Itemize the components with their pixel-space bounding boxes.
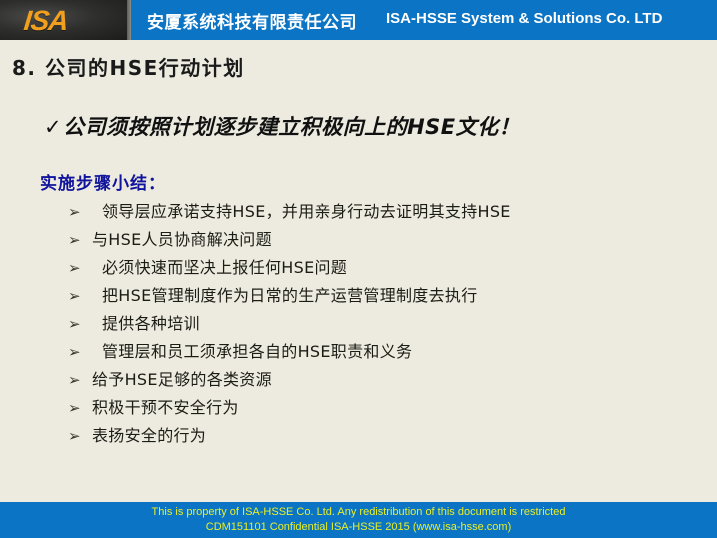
footer-document-id-line: CDM151101 Confidential ISA-HSSE 2015 (ww… xyxy=(0,520,717,535)
arrow-bullet-icon: ➢ xyxy=(68,198,84,226)
list-item: ➢ 给予HSE足够的各类资源 xyxy=(68,366,698,394)
list-item-label: 表扬安全的行为 xyxy=(84,422,206,450)
list-item-label: 领导层应承诺支持HSE，并用亲身行动去证明其支持HSE xyxy=(84,198,511,226)
implementation-steps-list: ➢ 领导层应承诺支持HSE，并用亲身行动去证明其支持HSE ➢ 与HSE人员协商… xyxy=(68,198,698,450)
list-item-label: 与HSE人员协商解决问题 xyxy=(84,226,272,254)
section-subheading: 实施步骤小结： xyxy=(40,169,166,194)
highlight-statement: ✓公司须按照计划逐步建立积极向上的HSE文化！ xyxy=(44,111,520,141)
company-name-chinese: 安厦系统科技有限责任公司 xyxy=(147,8,357,33)
slide-canvas: ISA 安厦系统科技有限责任公司 ISA-HSSE System & Solut… xyxy=(0,0,717,538)
page-title: 8. 公司的HSE行动计划 xyxy=(12,52,245,81)
arrow-bullet-icon: ➢ xyxy=(68,422,84,450)
company-name-english: ISA-HSSE System & Solutions Co. LTD xyxy=(386,10,662,27)
arrow-bullet-icon: ➢ xyxy=(68,282,84,310)
check-icon: ✓ xyxy=(44,115,62,139)
list-item: ➢ 与HSE人员协商解决问题 xyxy=(68,226,698,254)
isa-logo: ISA xyxy=(22,5,69,37)
logo-panel: ISA xyxy=(0,0,131,40)
list-item: ➢ 管理层和员工须承担各自的HSE职责和义务 xyxy=(68,338,698,366)
list-item-label: 给予HSE足够的各类资源 xyxy=(84,366,272,394)
list-item: ➢ 领导层应承诺支持HSE，并用亲身行动去证明其支持HSE xyxy=(68,198,698,226)
list-item-label: 提供各种培训 xyxy=(84,310,200,338)
arrow-bullet-icon: ➢ xyxy=(68,366,84,394)
list-item: ➢ 表扬安全的行为 xyxy=(68,422,698,450)
list-item: ➢ 必须快速而坚决上报任何HSE问题 xyxy=(68,254,698,282)
header-title-bar: 安厦系统科技有限责任公司 ISA-HSSE System & Solutions… xyxy=(131,0,717,40)
arrow-bullet-icon: ➢ xyxy=(68,338,84,366)
list-item-label: 把HSE管理制度作为日常的生产运营管理制度去执行 xyxy=(84,282,478,310)
arrow-bullet-icon: ➢ xyxy=(68,254,84,282)
list-item: ➢ 把HSE管理制度作为日常的生产运营管理制度去执行 xyxy=(68,282,698,310)
slide-header: ISA 安厦系统科技有限责任公司 ISA-HSSE System & Solut… xyxy=(0,0,717,40)
footer-copyright-line: This is property of ISA-HSSE Co. Ltd. An… xyxy=(0,505,717,520)
list-item-label: 积极干预不安全行为 xyxy=(84,394,239,422)
slide-footer: This is property of ISA-HSSE Co. Ltd. An… xyxy=(0,502,717,538)
arrow-bullet-icon: ➢ xyxy=(68,310,84,338)
list-item: ➢ 提供各种培训 xyxy=(68,310,698,338)
list-item: ➢ 积极干预不安全行为 xyxy=(68,394,698,422)
list-item-label: 必须快速而坚决上报任何HSE问题 xyxy=(84,254,347,282)
list-item-label: 管理层和员工须承担各自的HSE职责和义务 xyxy=(84,338,412,366)
highlight-statement-text: 公司须按照计划逐步建立积极向上的HSE文化！ xyxy=(63,115,520,139)
arrow-bullet-icon: ➢ xyxy=(68,394,84,422)
arrow-bullet-icon: ➢ xyxy=(68,226,84,254)
